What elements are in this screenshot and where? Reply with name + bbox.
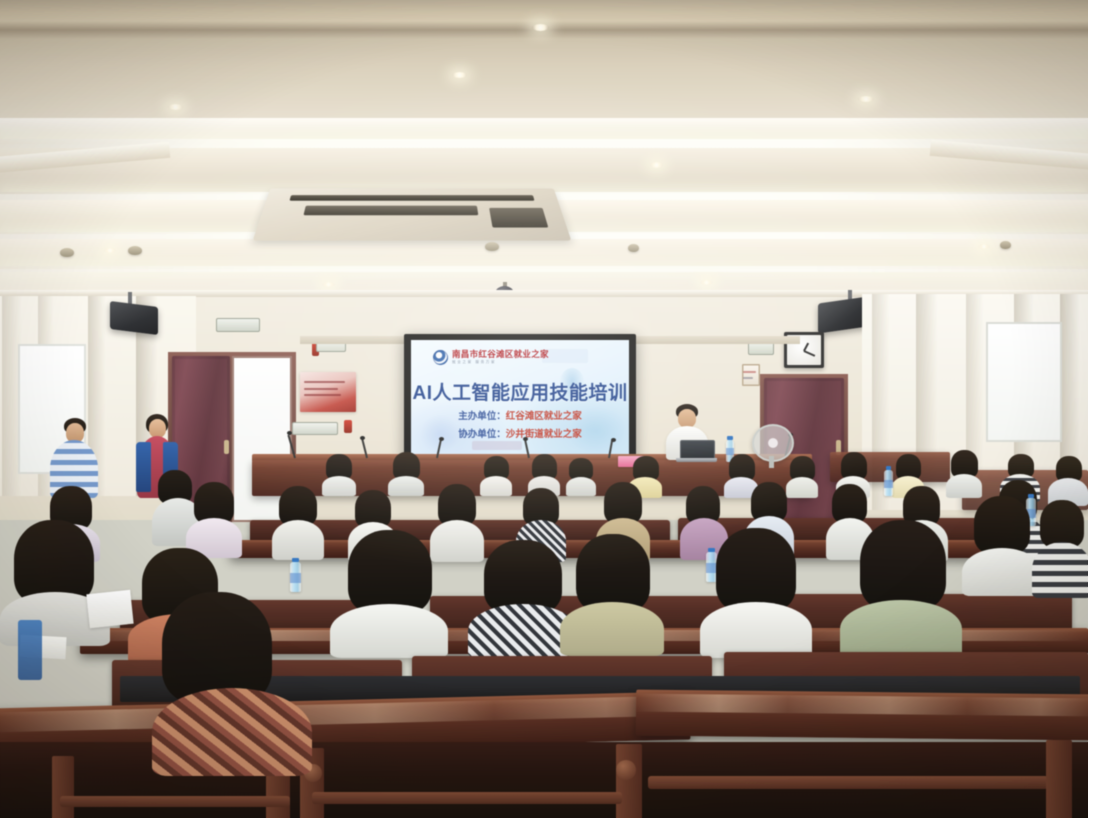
bottom-white-border xyxy=(0,818,1103,825)
ceiling-soffit-front xyxy=(0,239,1088,269)
blue-bag-strap xyxy=(18,620,42,680)
seminar-photograph: 南昌市红谷滩区就业之家 就业之家 服务万家 AI人工智能应用技能培训 主办单位：… xyxy=(0,0,1088,818)
slide-logo-tagline: 就业之家 服务万家 xyxy=(452,361,549,365)
note-paper-left xyxy=(86,590,133,628)
slide-logo: 南昌市红谷滩区就业之家 就业之家 服务万家 xyxy=(433,350,549,365)
bench-post-1 xyxy=(52,756,74,818)
downlight-9 xyxy=(104,248,116,253)
ceiling-speaker-right xyxy=(818,296,868,333)
window-right xyxy=(986,322,1062,442)
slide-line-cohost-label: 协办单位： xyxy=(458,429,506,440)
downlight-5 xyxy=(650,162,663,168)
framed-notice-right xyxy=(742,364,760,386)
downlight-8 xyxy=(978,244,990,249)
downlight-2 xyxy=(168,104,183,110)
ceiling xyxy=(0,0,1088,300)
attendee-c7 xyxy=(840,520,962,650)
attendee-c8 xyxy=(962,496,1042,592)
downlight-4 xyxy=(452,72,467,78)
water-bottle-3 xyxy=(884,470,893,496)
ceiling-led-strip-4 xyxy=(0,266,1088,272)
downlight-7 xyxy=(700,280,713,285)
slide-line-host: 主办单位：红谷滩区就业之家 xyxy=(411,408,629,422)
attendee-foreground xyxy=(152,592,312,772)
downlight-6 xyxy=(322,282,335,287)
red-wall-poster xyxy=(300,372,356,412)
ceiling-speaker-left xyxy=(110,301,158,335)
attendee-c3 xyxy=(330,530,448,650)
slide-logo-text: 南昌市红谷滩区就业之家 就业之家 服务万家 xyxy=(452,350,549,364)
attendee-c9 xyxy=(1032,500,1088,598)
smoke-detector-4 xyxy=(628,244,639,252)
government-emblem-icon xyxy=(433,350,448,365)
photo-canvas: 南昌市红谷滩区就业之家 就业之家 服务万家 AI人工智能应用技能培训 主办单位：… xyxy=(0,0,1103,825)
slide-line-host-value: 红谷滩区就业之家 xyxy=(506,411,582,422)
bench-rail-2 xyxy=(312,792,622,804)
smoke-detector-2 xyxy=(128,246,142,255)
bench-knob-1 xyxy=(616,760,636,780)
exit-sign-left xyxy=(216,318,260,332)
cassette-air-conditioner xyxy=(253,188,572,240)
smoke-detector-3 xyxy=(485,242,499,251)
smoke-detector-1 xyxy=(60,248,74,257)
bench-rail-3 xyxy=(648,776,1048,789)
right-white-border xyxy=(1088,0,1103,825)
downlight-3 xyxy=(858,96,874,102)
bench-post-5 xyxy=(1046,740,1072,818)
fire-alarm-left xyxy=(344,420,352,433)
slide-logo-organization: 南昌市红谷滩区就业之家 xyxy=(452,350,549,359)
bench-post-4 xyxy=(616,744,642,818)
slide-line-cohost-value: 沙井街道就业之家 xyxy=(506,429,582,440)
bench-rail-1 xyxy=(60,796,290,807)
slide-title: AI人工智能应用技能培训 xyxy=(411,378,629,405)
slide-line-host-label: 主办单位： xyxy=(458,411,506,422)
attendee-b2 xyxy=(186,482,242,556)
attendee-c5 xyxy=(560,534,664,650)
attendee-b3 xyxy=(272,486,324,558)
smoke-detector-5 xyxy=(1000,241,1011,249)
water-bottle-1 xyxy=(290,562,301,592)
attendee-c6 xyxy=(700,528,812,650)
downlight-1 xyxy=(532,24,549,31)
